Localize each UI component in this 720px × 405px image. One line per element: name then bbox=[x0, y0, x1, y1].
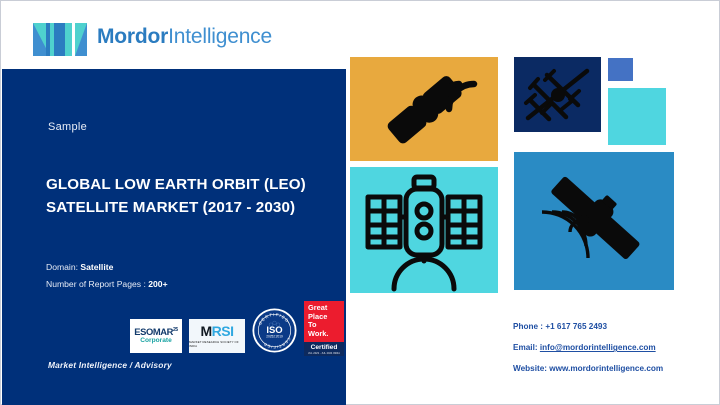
title-panel: Sample GLOBAL LOW EARTH ORBIT (LEO) SATE… bbox=[2, 69, 346, 405]
brand-logo[interactable]: MordorIntelligence bbox=[32, 15, 272, 57]
mrsi-mark-accent: RSI bbox=[212, 323, 234, 339]
space-station-tile bbox=[514, 57, 601, 132]
mrsi-badge-caption: MARKET RESEARCH SOCIETY OF INDIA bbox=[189, 340, 245, 348]
contact-website-value: www.mordorintelligence.com bbox=[549, 364, 663, 373]
contact-phone-value: +1 617 765 2493 bbox=[545, 322, 607, 331]
sample-label: Sample bbox=[48, 121, 87, 133]
blue-accent-square bbox=[608, 58, 633, 81]
satellite-signal-tile bbox=[350, 57, 498, 161]
mrsi-badge-mark: MRSI bbox=[200, 324, 233, 338]
contact-phone-label: Phone : bbox=[513, 322, 543, 331]
domain-value: Satellite bbox=[80, 262, 113, 272]
domain-row: Domain: Satellite bbox=[46, 259, 168, 276]
mrsi-badge: MRSI MARKET RESEARCH SOCIETY OF INDIA bbox=[189, 319, 245, 353]
svg-text:20252:2019: 20252:2019 bbox=[266, 335, 283, 339]
esomar-badge-name: ESOMAR bbox=[134, 326, 173, 337]
gptw-headline: Great Place To Work. bbox=[304, 301, 344, 342]
mrsi-mark-dark: M bbox=[200, 323, 211, 339]
satellite-broadcast-tile bbox=[514, 152, 674, 290]
great-place-to-work-badge: Great Place To Work. Certified JUL 2023 … bbox=[304, 301, 344, 353]
brand-name-bold: Mordor bbox=[97, 25, 168, 48]
cyan-accent-square bbox=[608, 88, 666, 145]
contact-block: Phone : +1 617 765 2493 Email: info@mord… bbox=[513, 323, 663, 374]
gptw-certified-dates: JUL 2023 - JUL 2024 INDIA bbox=[304, 352, 344, 355]
satellite-signal-icon bbox=[350, 57, 498, 161]
certification-badges: ESOMAR25 Corporate MRSI MARKET RESEARCH … bbox=[130, 301, 344, 353]
contact-phone-row: Phone : +1 617 765 2493 bbox=[513, 323, 663, 331]
mordor-m-i-logo-icon bbox=[32, 15, 88, 57]
esomar-badge-sup: 25 bbox=[173, 327, 178, 333]
satellite-broadcast-icon bbox=[514, 152, 674, 290]
domain-label: Domain: bbox=[46, 262, 78, 272]
satellite-outline-icon bbox=[350, 167, 498, 293]
contact-email-row: Email: info@mordorintelligence.com bbox=[513, 344, 663, 352]
svg-text:ISO: ISO bbox=[266, 325, 282, 336]
satellite-outline-tile bbox=[350, 167, 498, 293]
contact-email-label: Email: bbox=[513, 343, 538, 352]
pages-label: Number of Report Pages : bbox=[46, 279, 146, 289]
report-meta: Domain: Satellite Number of Report Pages… bbox=[46, 259, 168, 293]
gptw-certified-label: Certified bbox=[304, 344, 344, 351]
contact-website-row: Website: www.mordorintelligence.com bbox=[513, 365, 663, 373]
esomar-badge-sub: Corporate bbox=[140, 338, 172, 345]
report-cover: MordorIntelligence Sample GLOBAL LOW EAR… bbox=[0, 0, 720, 405]
pages-value: 200+ bbox=[148, 279, 167, 289]
brand-name-light: Intelligence bbox=[168, 25, 272, 48]
gptw-certified: Certified JUL 2023 - JUL 2024 INDIA bbox=[304, 342, 344, 355]
iso-badge: CERTIFIED CERTIFIED ISO 20252:2019 bbox=[252, 308, 297, 353]
gptw-line-4: Work. bbox=[308, 330, 340, 339]
contact-email-link[interactable]: info@mordorintelligence.com bbox=[540, 343, 656, 352]
esomar-badge-mark: ESOMAR25 bbox=[134, 327, 178, 336]
esomar-badge: ESOMAR25 Corporate bbox=[130, 319, 182, 353]
contact-website-label: Website: bbox=[513, 364, 547, 373]
page-title: GLOBAL LOW EARTH ORBIT (LEO) SATELLITE M… bbox=[46, 173, 328, 219]
pages-row: Number of Report Pages : 200+ bbox=[46, 276, 168, 293]
brand-name: MordorIntelligence bbox=[97, 26, 272, 47]
brand-tagline: Market Intelligence / Advisory bbox=[48, 360, 172, 370]
space-station-icon bbox=[514, 57, 601, 132]
